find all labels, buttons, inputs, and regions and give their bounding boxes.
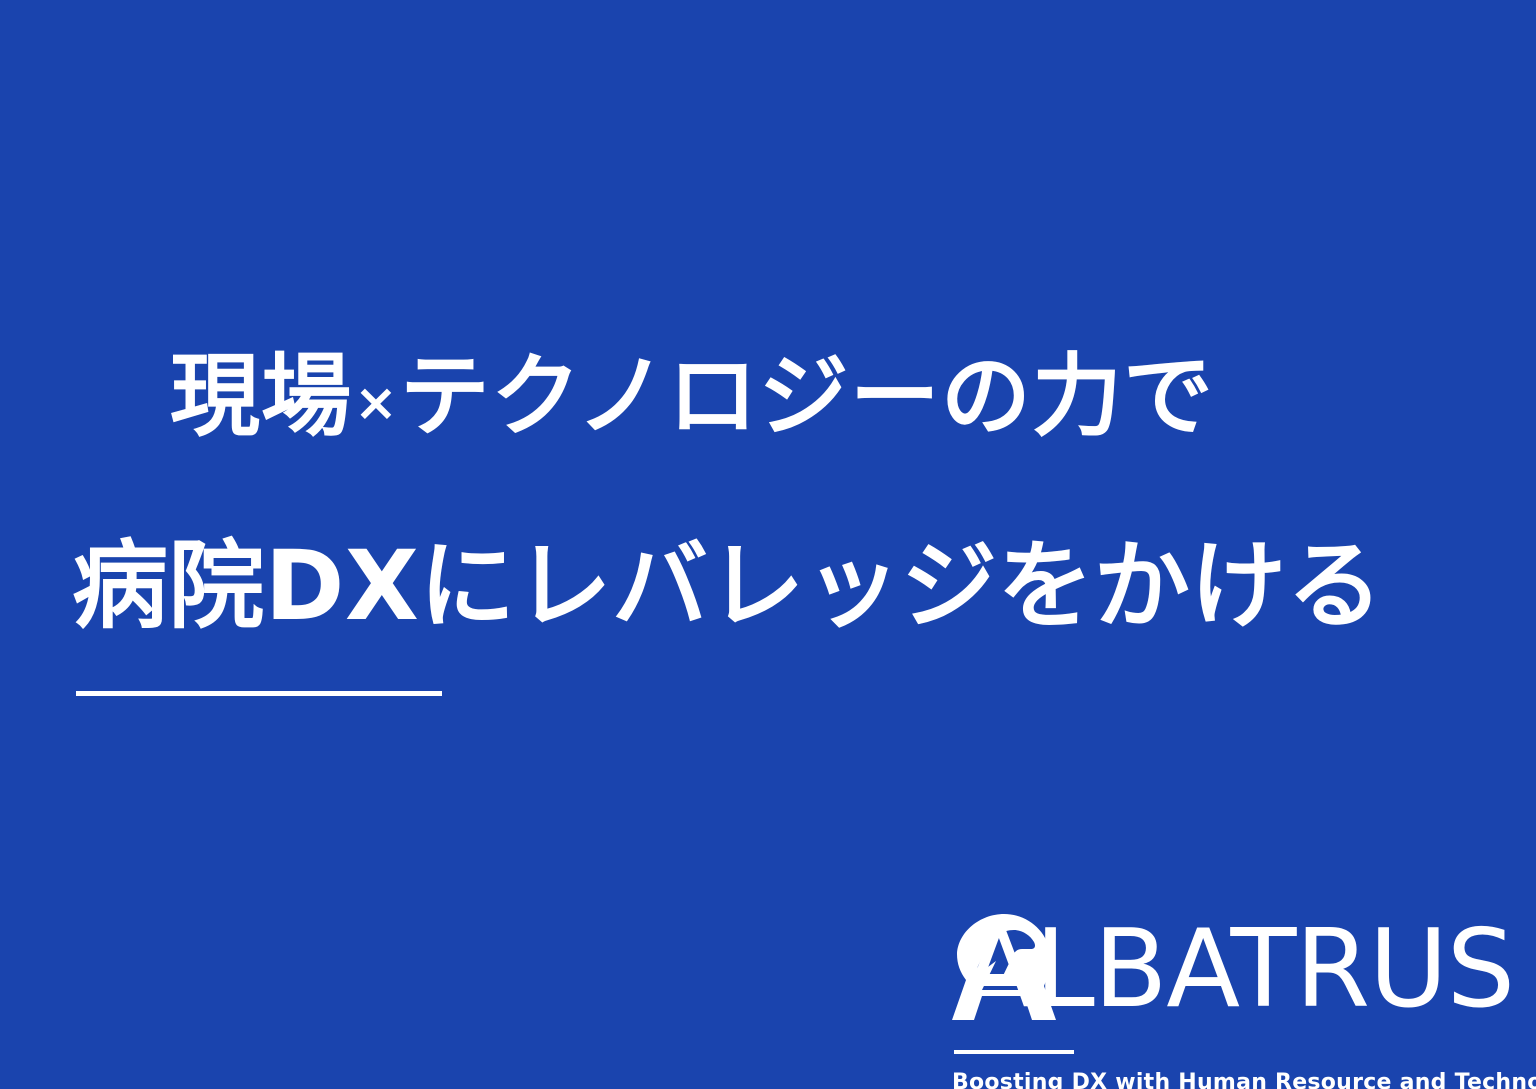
logo-divider-rule — [954, 1050, 1074, 1054]
headline-line-2: 病院DXにレバレッジをかける — [72, 538, 1536, 634]
albatrus-logo: ALBATRUS Boosting DX with Human Resource… — [952, 912, 1536, 1024]
logo-tagline: Boosting DX with Human Resource and Tech… — [952, 1070, 1536, 1089]
multiplication-icon: × — [352, 373, 400, 433]
headline-underline-rule — [76, 691, 442, 696]
headline-line-1-part-b: テクノロジーの力で — [400, 344, 1214, 449]
slide-canvas: 現場×テクノロジーの力で 病院DXにレバレッジをかける ALBATRUS Boo… — [0, 0, 1536, 1089]
logo-mark-row: ALBATRUS — [952, 912, 1536, 1024]
logo-wordmark: ALBATRUS — [962, 916, 1514, 1024]
headline-line-1-part-a: 現場 — [170, 344, 352, 449]
headline-block: 現場×テクノロジーの力で 病院DXにレバレッジをかける — [0, 352, 1536, 634]
headline-line-1: 現場×テクノロジーの力で — [170, 352, 1536, 442]
